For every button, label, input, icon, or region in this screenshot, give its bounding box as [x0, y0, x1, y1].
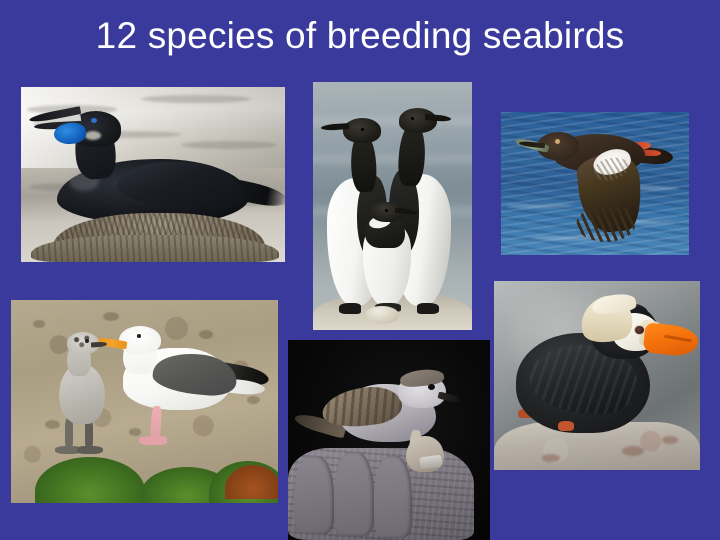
rock-lichen-spot: [622, 446, 644, 456]
murre-foot: [417, 303, 439, 314]
presentation-slide: 12 species of breeding seabirds: [0, 0, 720, 540]
glove-finger: [374, 456, 412, 538]
rock-streak: [141, 95, 251, 103]
rock-streak: [181, 141, 277, 149]
murre-egg: [365, 306, 399, 324]
rock-lichen-spot: [542, 454, 560, 462]
gull-chick-foot: [77, 446, 103, 454]
page-title: 12 species of breeding seabirds: [0, 14, 720, 58]
puffin-eye: [634, 325, 645, 335]
murre-chick-eye: [385, 209, 388, 212]
cormorant-eye: [91, 118, 97, 123]
cormorant-cheek-patch: [85, 131, 101, 140]
gull-head: [119, 326, 161, 354]
ground-speck: [199, 330, 213, 339]
water-ripple: [507, 204, 573, 208]
photo-tufted-puffin-on-rock[interactable]: [494, 281, 700, 470]
petrel-image-content: [288, 340, 490, 540]
rock-lichen-spot: [662, 436, 678, 444]
cormorant-nest-base: [31, 235, 279, 262]
guillemot-eye: [555, 139, 560, 144]
photo-brandts-cormorant-on-nest[interactable]: [21, 87, 285, 262]
guillemot-image-content: [501, 112, 689, 255]
puffin-red-foot: [558, 421, 574, 431]
water-band: [313, 154, 472, 164]
murre-eye: [361, 128, 364, 131]
photo-storm-petrel-in-hand[interactable]: [288, 340, 490, 540]
ground-speck: [33, 320, 45, 328]
puffin-image-content: [494, 281, 700, 470]
gull-webbed-foot: [139, 436, 167, 445]
photo-western-gull-with-chick[interactable]: [11, 300, 278, 503]
gull-image-content: [11, 300, 278, 503]
murre-eye: [411, 117, 414, 120]
gull-eye: [137, 334, 141, 338]
murre-foot: [339, 303, 361, 314]
petrel-eye: [428, 384, 435, 390]
guillemot-red-foot: [643, 150, 661, 157]
gull-chick-eye: [85, 339, 89, 343]
ground-speck: [45, 420, 60, 429]
cormorant-image-content: [21, 87, 285, 262]
glove-finger: [294, 456, 334, 534]
photo-common-murres-with-chick[interactable]: [313, 82, 472, 330]
ground-speck: [247, 396, 260, 404]
ground-speck: [129, 428, 141, 436]
murres-image-content: [313, 82, 472, 330]
photo-pigeon-guillemot-in-flight[interactable]: [501, 112, 689, 255]
murre-chick: [363, 220, 411, 306]
glove-finger: [334, 452, 374, 536]
ground-speck: [103, 312, 119, 321]
